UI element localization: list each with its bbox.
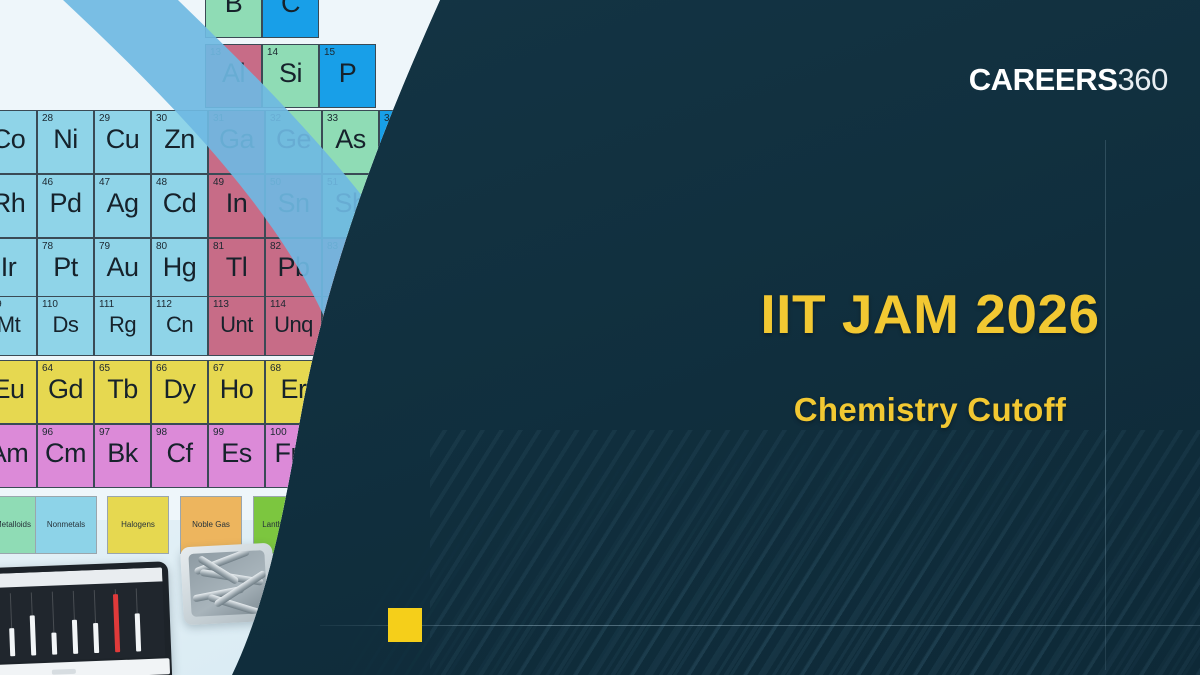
element-symbol: Gd (38, 374, 93, 404)
element-atomic-number: 79 (99, 241, 110, 252)
laptop-chart (0, 588, 161, 658)
element-cell-hg: 80Hg (151, 238, 208, 302)
element-atomic-number: 113 (213, 299, 229, 310)
page-title: IIT JAM 2026 (700, 284, 1160, 344)
element-symbol: Co (0, 124, 36, 154)
element-cell-c: 6C (262, 0, 319, 38)
element-atomic-number: 14 (267, 47, 278, 58)
element-symbol: Rh (0, 188, 36, 218)
element-atomic-number: 66 (156, 363, 167, 374)
logo-text-primary: CAREERS (969, 62, 1118, 98)
element-cell-ir: 77Ir (0, 238, 37, 302)
element-atomic-number: 13 (210, 47, 221, 58)
element-symbol: Ds (38, 310, 93, 340)
element-cell-tl: 81Tl (208, 238, 265, 302)
element-symbol: Sn (266, 188, 321, 218)
element-cell-am: 95Am (0, 424, 37, 488)
element-atomic-number: 80 (156, 241, 167, 252)
element-symbol: Cn (152, 310, 207, 340)
element-cell-ho: 67Ho (208, 360, 265, 424)
accent-square (388, 608, 422, 642)
element-cell-in: 49In (208, 174, 265, 238)
element-symbol: Ge (266, 124, 321, 154)
element-cell-ni: 28Ni (37, 110, 94, 174)
element-symbol: Au (95, 252, 150, 282)
element-cell-si: 14Si (262, 44, 319, 108)
element-atomic-number: 112 (156, 299, 172, 310)
element-symbol: Tb (95, 374, 150, 404)
element-cell-rg: 111Rg (94, 296, 151, 356)
element-atomic-number: 64 (42, 363, 53, 374)
element-symbol: Pb (266, 252, 321, 282)
element-symbol: P (320, 58, 375, 88)
element-symbol: Am (0, 438, 36, 468)
element-cell-zn: 30Zn (151, 110, 208, 174)
element-symbol: Ir (0, 252, 36, 282)
element-cell-au: 79Au (94, 238, 151, 302)
element-symbol: As (323, 124, 378, 154)
element-symbol: Ag (95, 188, 150, 218)
element-atomic-number: 67 (213, 363, 224, 374)
element-atomic-number: 46 (42, 177, 53, 188)
element-atomic-number: 100 (270, 427, 287, 438)
horizontal-divider-line (320, 625, 1200, 626)
element-cell-pb: 82Pb (265, 238, 322, 302)
chart-bar (113, 594, 120, 652)
element-atomic-number: 30 (156, 113, 167, 124)
hatch-texture-secondary (430, 430, 1200, 675)
element-cell-cn: 112Cn (151, 296, 208, 356)
element-atomic-number: 114 (270, 299, 286, 310)
laptop-device (0, 561, 172, 675)
element-cell-cd: 48Cd (151, 174, 208, 238)
element-cell-pd: 46Pd (37, 174, 94, 238)
element-cell-bk: 97Bk (94, 424, 151, 488)
element-atomic-number: 15 (324, 47, 335, 58)
laptop-trackpad (52, 669, 76, 675)
logo-text-secondary: 360 (1117, 62, 1168, 98)
element-atomic-number: 109 (0, 299, 2, 310)
element-cell-dy: 66Dy (151, 360, 208, 424)
element-atomic-number: 47 (99, 177, 110, 188)
element-atomic-number: 49 (213, 177, 224, 188)
element-atomic-number: 98 (156, 427, 167, 438)
element-symbol: Pd (38, 188, 93, 218)
element-symbol: Es (209, 438, 264, 468)
element-atomic-number: 48 (156, 177, 167, 188)
element-symbol: Ni (38, 124, 93, 154)
element-atomic-number: 82 (270, 241, 281, 252)
element-symbol: Rg (95, 310, 150, 340)
element-symbol: Cf (152, 438, 207, 468)
element-cell-unq: 114Unq (265, 296, 322, 356)
element-atomic-number: 96 (42, 427, 53, 438)
element-atomic-number: 29 (99, 113, 110, 124)
page-subtitle: Chemistry Cutoff (700, 390, 1160, 430)
element-symbol: Ga (209, 124, 264, 154)
element-atomic-number: 83 (327, 241, 338, 252)
element-atomic-number: 97 (99, 427, 110, 438)
element-cell-sn: 50Sn (265, 174, 322, 238)
element-atomic-number: 78 (42, 241, 53, 252)
element-cell-b: 5B (205, 0, 262, 38)
chart-bar (9, 628, 15, 656)
element-cell-ds: 110Ds (37, 296, 94, 356)
element-atomic-number: 32 (270, 113, 281, 124)
element-cell-cm: 96Cm (37, 424, 94, 488)
element-cell-unt: 113Unt (208, 296, 265, 356)
element-cell-ag: 47Ag (94, 174, 151, 238)
element-cell-cu: 29Cu (94, 110, 151, 174)
element-cell-tb: 65Tb (94, 360, 151, 424)
element-cell-rh: 45Rh (0, 174, 37, 238)
element-atomic-number: 31 (213, 113, 224, 124)
element-symbol: Bk (95, 438, 150, 468)
element-symbol: Ho (209, 374, 264, 404)
element-symbol: C (263, 0, 318, 18)
promo-banner: 5B6C13Al14Si15P27Co28Ni29Cu30Zn31Ga32Ge3… (0, 0, 1200, 675)
element-atomic-number: 110 (42, 299, 58, 310)
element-symbol: Eu (0, 374, 36, 404)
careers360-logo: CAREERS 360 (969, 62, 1168, 98)
element-cell-ga: 31Ga (208, 110, 265, 174)
element-cell-cf: 98Cf (151, 424, 208, 488)
element-symbol: Unq (266, 310, 321, 340)
element-symbol: Hg (152, 252, 207, 282)
element-cell-es: 99Es (208, 424, 265, 488)
element-atomic-number: 111 (99, 299, 114, 310)
chart-bar (93, 623, 99, 653)
element-cell-al: 13Al (205, 44, 262, 108)
laptop-toolbar (0, 567, 162, 588)
legend-chip-halogens: Halogens (107, 496, 169, 554)
chart-bar (51, 633, 57, 655)
element-cell-gd: 64Gd (37, 360, 94, 424)
element-cell-co: 27Co (0, 110, 37, 174)
element-symbol: Tl (209, 252, 264, 282)
element-symbol: Al (206, 58, 261, 88)
element-symbol: Zn (152, 124, 207, 154)
element-symbol: Mt (0, 310, 36, 340)
element-cell-ge: 32Ge (265, 110, 322, 174)
element-symbol: In (209, 188, 264, 218)
element-symbol: Cm (38, 438, 93, 468)
element-symbol: Pt (38, 252, 93, 282)
element-atomic-number: 50 (270, 177, 281, 188)
element-symbol: Si (263, 58, 318, 88)
element-atomic-number: 33 (327, 113, 338, 124)
element-atomic-number: 51 (327, 177, 338, 188)
element-cell-as: 33As (322, 110, 379, 174)
laptop-screen (0, 567, 165, 663)
element-atomic-number: 28 (42, 113, 53, 124)
element-cell-mt: 109Mt (0, 296, 37, 356)
element-symbol: Dy (152, 374, 207, 404)
element-cell-pt: 78Pt (37, 238, 94, 302)
element-atomic-number: 99 (213, 427, 224, 438)
element-symbol: Cd (152, 188, 207, 218)
element-atomic-number: 65 (99, 363, 110, 374)
element-symbol: Cu (95, 124, 150, 154)
element-symbol: B (206, 0, 261, 18)
element-symbol: Unt (209, 310, 264, 340)
element-atomic-number: 81 (213, 241, 224, 252)
element-cell-eu: 63Eu (0, 360, 37, 424)
element-atomic-number: 68 (270, 363, 281, 374)
tool-tray-inner (188, 550, 267, 617)
legend-chip-nonmetals: Nonmetals (35, 496, 97, 554)
element-cell-p: 15P (319, 44, 376, 108)
chart-bar (135, 613, 141, 651)
chart-bar (72, 620, 78, 654)
chart-bar (30, 615, 37, 655)
